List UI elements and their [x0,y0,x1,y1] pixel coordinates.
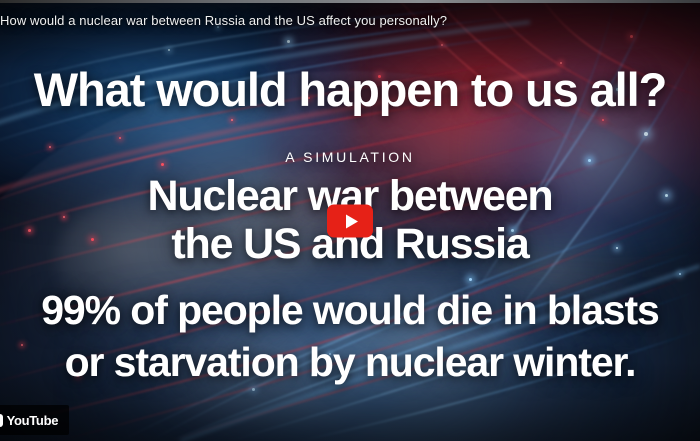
watch-on-youtube-button[interactable]: on YouTube [0,405,69,435]
play-triangle-icon [346,214,358,228]
youtube-wordmark: YouTube [7,413,59,428]
video-player[interactable]: What would happen to us all? A SIMULATIO… [0,0,700,441]
video-title[interactable]: How would a nuclear war between Russia a… [0,12,447,29]
window-top-edge [0,0,700,3]
play-button[interactable] [327,205,373,238]
youtube-logo: YouTube [0,413,58,428]
youtube-play-icon [0,414,3,427]
